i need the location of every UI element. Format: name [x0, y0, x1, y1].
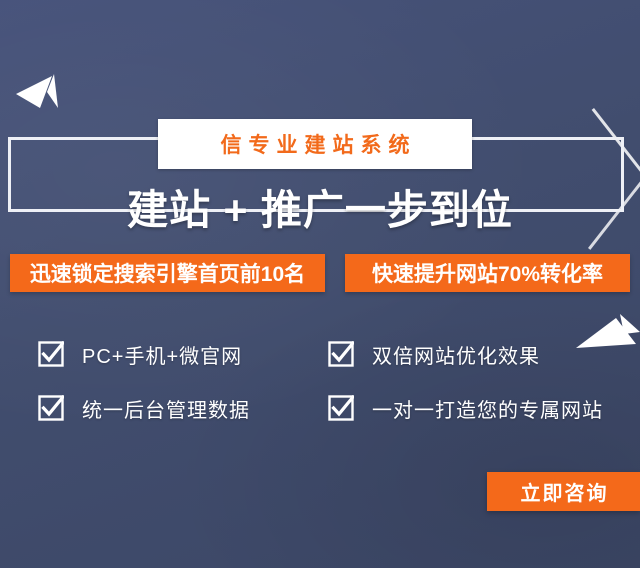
badge-conversion-rate-label: 快速提升网站70%转化率	[372, 258, 603, 288]
feature-item: PC+手机+微官网	[38, 334, 242, 374]
checkbox-checked-icon	[328, 341, 354, 367]
feature-label: PC+手机+微官网	[82, 340, 242, 369]
subtitle-box: 信专业建站系统	[158, 119, 472, 169]
feature-label: 一对一打造您的专属网站	[372, 394, 603, 423]
promo-banner: 信专业建站系统 建站 + 推广一步到位 迅速锁定搜索引擎首页前10名 快速提升网…	[0, 0, 640, 568]
headline-text: 建站 + 推广一步到位	[113, 176, 527, 236]
consult-now-label: 立即咨询	[519, 477, 609, 506]
feature-item: 双倍网站优化效果	[328, 334, 540, 374]
feature-label: 统一后台管理数据	[82, 394, 250, 423]
feature-item: 统一后台管理数据	[38, 388, 250, 428]
badge-seo-ranking: 迅速锁定搜索引擎首页前10名	[10, 254, 325, 292]
feature-list: PC+手机+微官网 双倍网站优化效果 统一后台管理数据	[0, 326, 640, 446]
consult-now-button[interactable]: 立即咨询	[487, 472, 640, 511]
feature-item: 一对一打造您的专属网站	[328, 388, 603, 428]
checkbox-checked-icon	[328, 395, 354, 421]
checkbox-checked-icon	[38, 341, 64, 367]
subtitle-text: 信专业建站系统	[214, 129, 417, 159]
feature-label: 双倍网站优化效果	[372, 340, 540, 369]
paper-plane-top-left-icon	[14, 62, 72, 112]
badge-seo-ranking-label: 迅速锁定搜索引擎首页前10名	[30, 258, 305, 288]
badge-conversion-rate: 快速提升网站70%转化率	[345, 254, 630, 292]
checkbox-checked-icon	[38, 395, 64, 421]
headline-row: 建站 + 推广一步到位	[0, 178, 640, 234]
